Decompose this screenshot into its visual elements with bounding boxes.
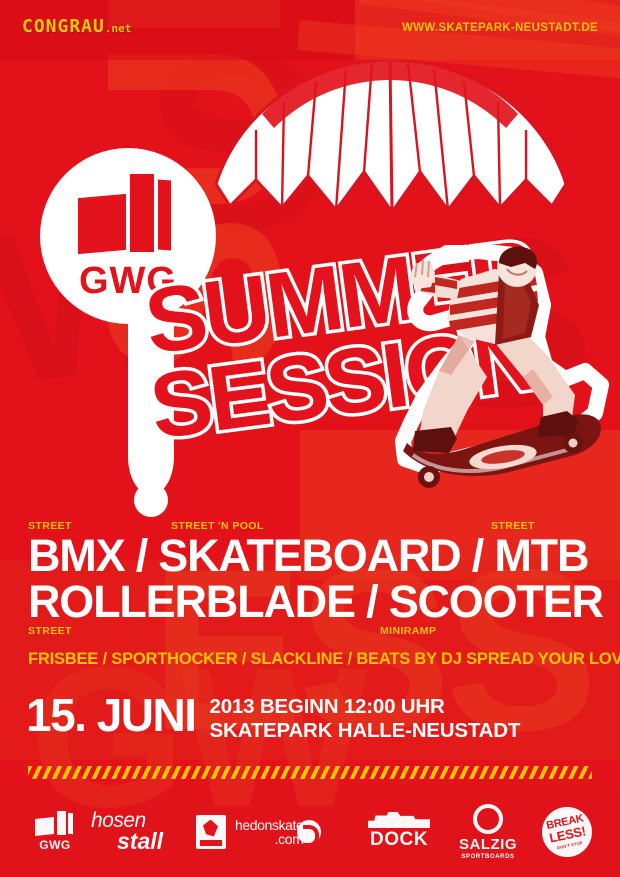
skateboarder-illustration (395, 245, 610, 495)
tag-row-bottom: STREET MINIRAMP (28, 625, 594, 638)
leaf-badge-icon (196, 815, 226, 849)
header-bar: CONGRAU.net WWW.SKATEPARK-NEUSTADT.DE (0, 0, 620, 52)
gwg-blocks-icon (78, 174, 178, 252)
discipline-tag: STREET (491, 520, 535, 532)
discipline-line-1: BMX / SKATEBOARD / MTB (28, 533, 594, 579)
sponsor-logo-breakless[interactable]: BREAK LESS! DON'T STOP (538, 807, 596, 857)
sponsor-logo-alm[interactable] (194, 815, 228, 849)
sponsor-logo-hosenstall[interactable]: hosen stall (91, 812, 187, 852)
poster-canvas: W S SUM S ESS GW (0, 0, 620, 877)
hedonskate-mark-icon (297, 820, 321, 844)
website-url[interactable]: WWW.SKATEPARK-NEUSTADT.DE (402, 22, 598, 34)
sponsor-logo-salzig[interactable]: SALZIG SPORTBOARDS (445, 804, 531, 860)
extras-line: FRISBEE / SPORTHOCKER / SLACKLINE / BEAT… (28, 650, 620, 669)
congrau-logo-text: CONGRAU (22, 16, 105, 37)
breakless-badge-icon: BREAK LESS! DON'T STOP (537, 802, 596, 861)
sponsor-label: GWG (26, 838, 84, 852)
striped-divider (28, 766, 592, 779)
discipline-tag: MINIRAMP (380, 625, 436, 637)
congrau-logo-suffix: .net (105, 22, 132, 35)
event-venue: SKATEPARK HALLE-NEUSTADT (210, 719, 521, 743)
sponsor-label-line1: hedonskate (235, 818, 303, 832)
crane-icon (368, 812, 430, 828)
sponsor-label-block: hedonskate .com (235, 818, 303, 846)
event-subdetails: 2013 BEGINN 12:00 UHR SKATEPARK HALLE-NE… (210, 692, 521, 743)
discipline-line-2: ROLLERBLADE / SCOOTER (28, 579, 594, 625)
sponsor-label: DOCK (360, 829, 438, 851)
sponsor-label: SALZIG (445, 836, 531, 853)
discipline-list: STREET STREET 'N POOL STREET BMX / SKATE… (28, 520, 594, 638)
skateboarder-svg (395, 245, 610, 495)
sponsor-logo-hedonskate[interactable]: hedonskate .com (235, 818, 353, 846)
congrau-logo[interactable]: CONGRAU.net (22, 16, 131, 37)
sponsor-label-word2: stall (117, 831, 187, 852)
sponsor-logo-dock[interactable]: DOCK (360, 812, 438, 851)
discipline-tag: STREET (28, 520, 72, 532)
ring-icon (473, 804, 503, 834)
event-date: 15. JUNI (26, 692, 196, 738)
tag-row-top: STREET STREET 'N POOL STREET (28, 520, 594, 533)
discipline-tag: STREET 'N POOL (171, 520, 264, 532)
event-details: 15. JUNI 2013 BEGINN 12:00 UHR SKATEPARK… (26, 692, 520, 743)
sponsor-sublabel: SPORTBOARDS (445, 854, 531, 860)
gwg-blocks-icon (35, 811, 75, 835)
sponsor-row: GWG hosen stall hedonskate .com DOCK SAL… (26, 804, 596, 859)
sponsor-label-line2: .com (235, 832, 303, 846)
discipline-tag: STREET (28, 625, 72, 637)
event-time: 2013 BEGINN 12:00 UHR (210, 695, 521, 719)
sponsor-logo-gwg[interactable]: GWG (26, 811, 84, 852)
